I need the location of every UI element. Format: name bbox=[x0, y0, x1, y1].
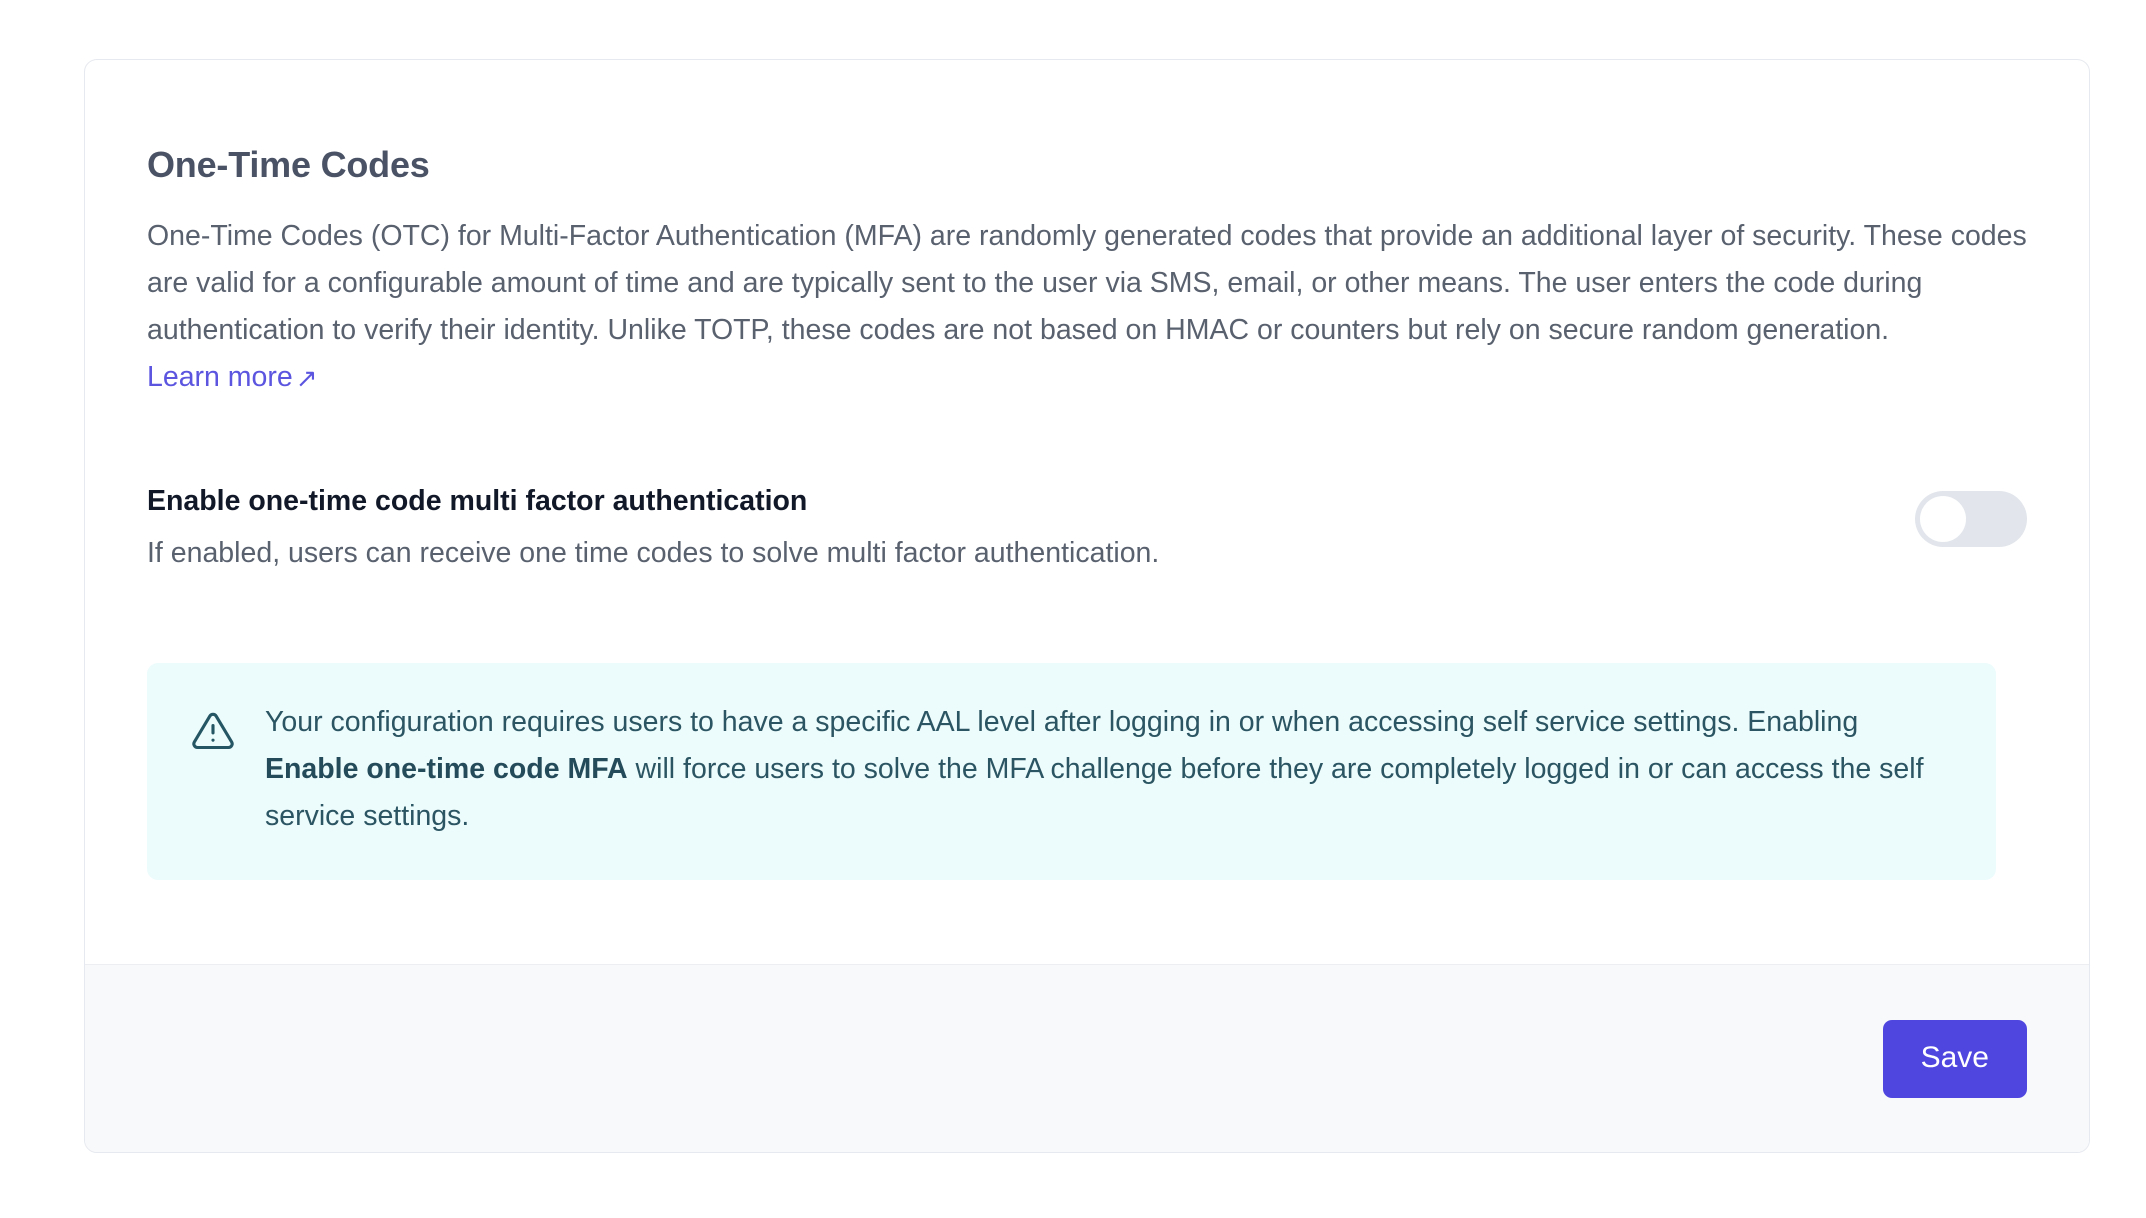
alert-message-emphasis: Enable one-time code MFA bbox=[265, 753, 628, 785]
section-description-text: One-Time Codes (OTC) for Multi-Factor Au… bbox=[147, 220, 2027, 346]
external-link-arrow-icon: ↗ bbox=[296, 365, 318, 391]
page-title: One-Time Codes bbox=[147, 143, 2027, 187]
card-body: One-Time Codes One-Time Codes (OTC) for … bbox=[85, 60, 2089, 964]
learn-more-link[interactable]: Learn more↗ bbox=[147, 361, 318, 393]
alert-message-part-1: Your configuration requires users to hav… bbox=[265, 706, 1858, 738]
enable-one-time-code-mfa-toggle[interactable] bbox=[1915, 491, 2027, 547]
toggle-knob bbox=[1920, 496, 1966, 542]
learn-more-label: Learn more bbox=[147, 361, 293, 393]
setting-help-text: If enabled, users can receive one time c… bbox=[147, 535, 1875, 571]
setting-texts: Enable one-time code multi factor authen… bbox=[147, 483, 1875, 571]
setting-row: Enable one-time code multi factor authen… bbox=[147, 483, 2027, 571]
page-root: One-Time Codes One-Time Codes (OTC) for … bbox=[0, 0, 2146, 1218]
aal-warning-alert: Your configuration requires users to hav… bbox=[147, 663, 1996, 880]
setting-label: Enable one-time code multi factor authen… bbox=[147, 483, 1875, 519]
section-description: One-Time Codes (OTC) for Multi-Factor Au… bbox=[147, 213, 2027, 401]
card-footer: Save bbox=[85, 964, 2089, 1152]
one-time-codes-settings-card: One-Time Codes One-Time Codes (OTC) for … bbox=[84, 59, 2090, 1153]
alert-message: Your configuration requires users to hav… bbox=[265, 699, 1952, 840]
warning-triangle-icon bbox=[191, 709, 235, 753]
save-button[interactable]: Save bbox=[1883, 1020, 2027, 1098]
